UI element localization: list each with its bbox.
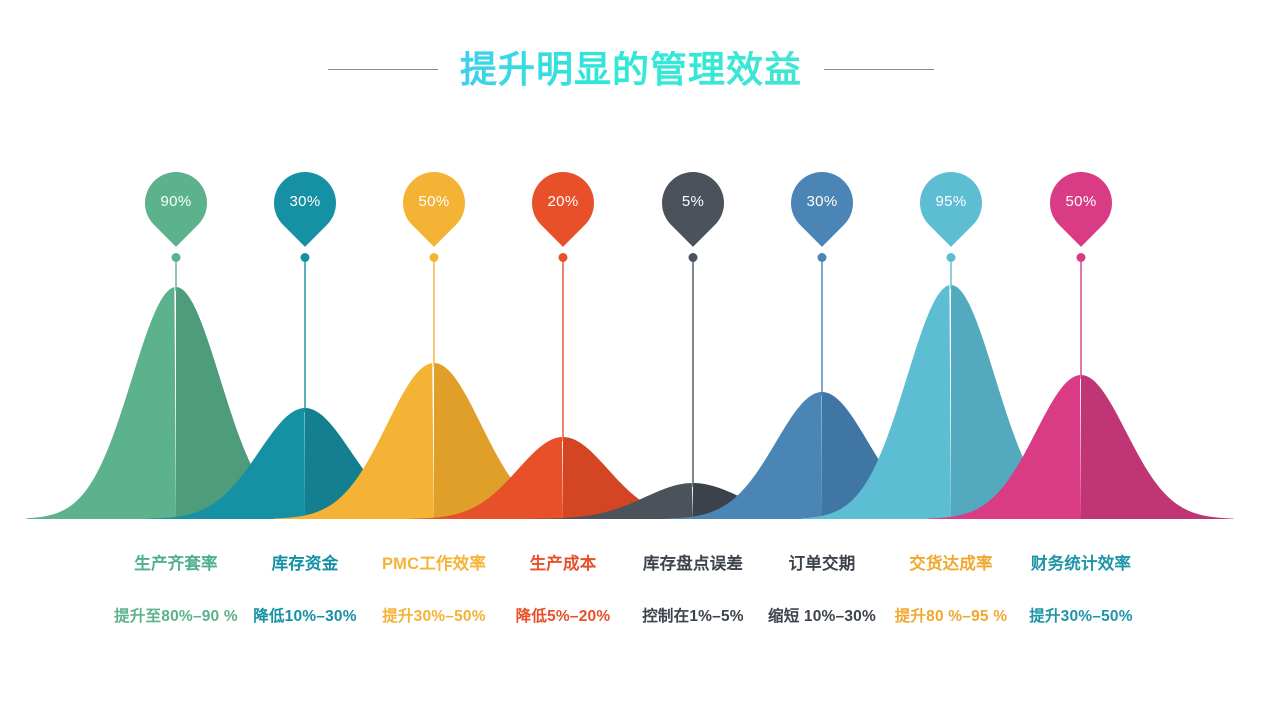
metric-subtitle-production-cost: 降低5%–20%: [516, 604, 611, 626]
pin-anchor-dot: [301, 253, 310, 262]
metric-subtitle-pmc-work-efficiency: 提升30%–50%: [382, 604, 485, 626]
metric-pin-inventory-count-error[interactable]: 5%: [662, 172, 724, 250]
pin-value-label: 20%: [532, 172, 594, 230]
pin-value-label: 90%: [145, 172, 207, 230]
metric-subtitle-finance-statistics-efficiency: 提升30%–50%: [1029, 604, 1132, 626]
pin-anchor-dot: [559, 253, 568, 262]
pin-anchor-dot: [172, 253, 181, 262]
metric-subtitle-inventory-count-error: 控制在1%–5%: [642, 604, 744, 626]
metric-title-production-cost: 生产成本: [530, 550, 597, 574]
metric-subtitle-inventory-capital: 降低10%–30%: [253, 604, 356, 626]
pin-value-label: 30%: [274, 172, 336, 230]
metric-title-inventory-count-error: 库存盘点误差: [643, 550, 743, 574]
metric-title-finance-statistics-efficiency: 财务统计效率: [1031, 550, 1131, 574]
pin-value-label: 50%: [1050, 172, 1112, 230]
pin-value-label: 95%: [920, 172, 982, 230]
metric-subtitle-order-lead-time: 缩短 10%–30%: [768, 604, 876, 626]
metric-title-pmc-work-efficiency: PMC工作效率: [382, 550, 486, 574]
metric-pin-delivery-attainment-rate[interactable]: 95%: [920, 172, 982, 250]
curve-right-half: [1081, 375, 1234, 519]
metric-pin-finance-statistics-efficiency[interactable]: 50%: [1050, 172, 1112, 250]
curve-group: [26, 285, 1234, 519]
metric-title-inventory-capital: 库存资金: [272, 550, 339, 574]
pin-value-label: 5%: [662, 172, 724, 230]
metric-pin-order-lead-time[interactable]: 30%: [791, 172, 853, 250]
pin-anchor-dot: [430, 253, 439, 262]
infographic-root: 提升明显的管理效益 90%生产齐套率提升至80%–90 %30%库存资金降低10…: [0, 0, 1262, 708]
pin-anchor-dot: [1077, 253, 1086, 262]
pin-value-label: 50%: [403, 172, 465, 230]
metric-pin-pmc-work-efficiency[interactable]: 50%: [403, 172, 465, 250]
pin-anchor-dot: [689, 253, 698, 262]
metric-pin-production-kitting-rate[interactable]: 90%: [145, 172, 207, 250]
metric-pin-inventory-capital[interactable]: 30%: [274, 172, 336, 250]
metric-pin-production-cost[interactable]: 20%: [532, 172, 594, 250]
curve-left-half: [26, 287, 176, 519]
metric-subtitle-production-kitting-rate: 提升至80%–90 %: [114, 604, 238, 626]
bell-curve-chart: [0, 0, 1262, 708]
pin-anchor-dot: [818, 253, 827, 262]
metric-title-order-lead-time: 订单交期: [789, 550, 856, 574]
pin-anchor-dot: [947, 253, 956, 262]
metric-title-delivery-attainment-rate: 交货达成率: [909, 550, 993, 574]
metric-title-production-kitting-rate: 生产齐套率: [134, 550, 218, 574]
metric-subtitle-delivery-attainment-rate: 提升80 %–95 %: [895, 604, 1007, 626]
pin-value-label: 30%: [791, 172, 853, 230]
